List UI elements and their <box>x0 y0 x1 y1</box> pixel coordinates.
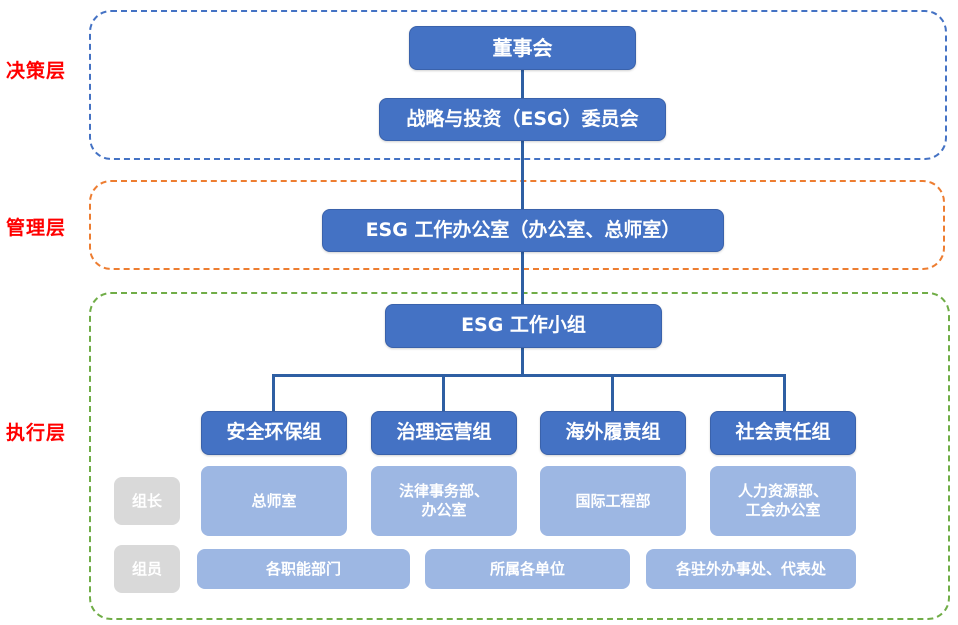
node-group-social-responsibility[interactable]: 社会责任组 <box>710 411 856 455</box>
leader-0-line1: 总师室 <box>251 492 296 511</box>
connector-drop-group-0 <box>272 374 275 411</box>
connector-board-to-committee <box>521 70 524 98</box>
leader-3-line1: 人力资源部、 <box>738 482 828 501</box>
row-tag-group-member: 组员 <box>114 545 180 593</box>
row-tag-group-leader: 组长 <box>114 477 180 525</box>
cell-member-functional-departments[interactable]: 各职能部门 <box>197 549 410 589</box>
node-group-safety-environment[interactable]: 安全环保组 <box>201 411 347 455</box>
connector-office-to-workgroup <box>521 252 524 304</box>
org-chart-canvas: 决策层 管理层 执行层 董事会 战略与投资（ESG）委员会 ESG 工作办公室（… <box>0 0 958 625</box>
connector-drop-group-3 <box>783 374 786 411</box>
cell-member-overseas-offices[interactable]: 各驻外办事处、代表处 <box>646 549 856 589</box>
leader-1-line1: 法律事务部、 <box>399 482 489 501</box>
connector-drop-group-2 <box>611 374 614 411</box>
connector-drop-group-1 <box>442 374 445 411</box>
cell-member-affiliated-units[interactable]: 所属各单位 <box>425 549 630 589</box>
node-esg-working-group[interactable]: ESG 工作小组 <box>385 304 662 348</box>
layer-label-management: 管理层 <box>6 213 66 240</box>
cell-leader-social-responsibility[interactable]: 人力资源部、 工会办公室 <box>710 466 856 536</box>
node-board-of-directors[interactable]: 董事会 <box>409 26 636 70</box>
node-group-overseas-responsibility[interactable]: 海外履责组 <box>540 411 686 455</box>
leader-2-line1: 国际工程部 <box>575 492 650 511</box>
node-esg-working-office[interactable]: ESG 工作办公室（办公室、总师室） <box>322 209 724 252</box>
leader-3-line2: 工会办公室 <box>738 501 828 520</box>
node-strategy-investment-esg-committee[interactable]: 战略与投资（ESG）委员会 <box>379 98 666 141</box>
connector-horizontal-bus <box>272 374 786 377</box>
connector-committee-to-office <box>521 141 524 209</box>
connector-workgroup-stem <box>521 348 524 375</box>
layer-label-execution: 执行层 <box>6 418 66 445</box>
cell-leader-overseas-responsibility[interactable]: 国际工程部 <box>540 466 686 536</box>
cell-leader-safety-environment[interactable]: 总师室 <box>201 466 347 536</box>
cell-leader-governance-operations[interactable]: 法律事务部、 办公室 <box>371 466 517 536</box>
layer-label-decision: 决策层 <box>6 56 66 83</box>
leader-1-line2: 办公室 <box>399 501 489 520</box>
node-group-governance-operations[interactable]: 治理运营组 <box>371 411 517 455</box>
